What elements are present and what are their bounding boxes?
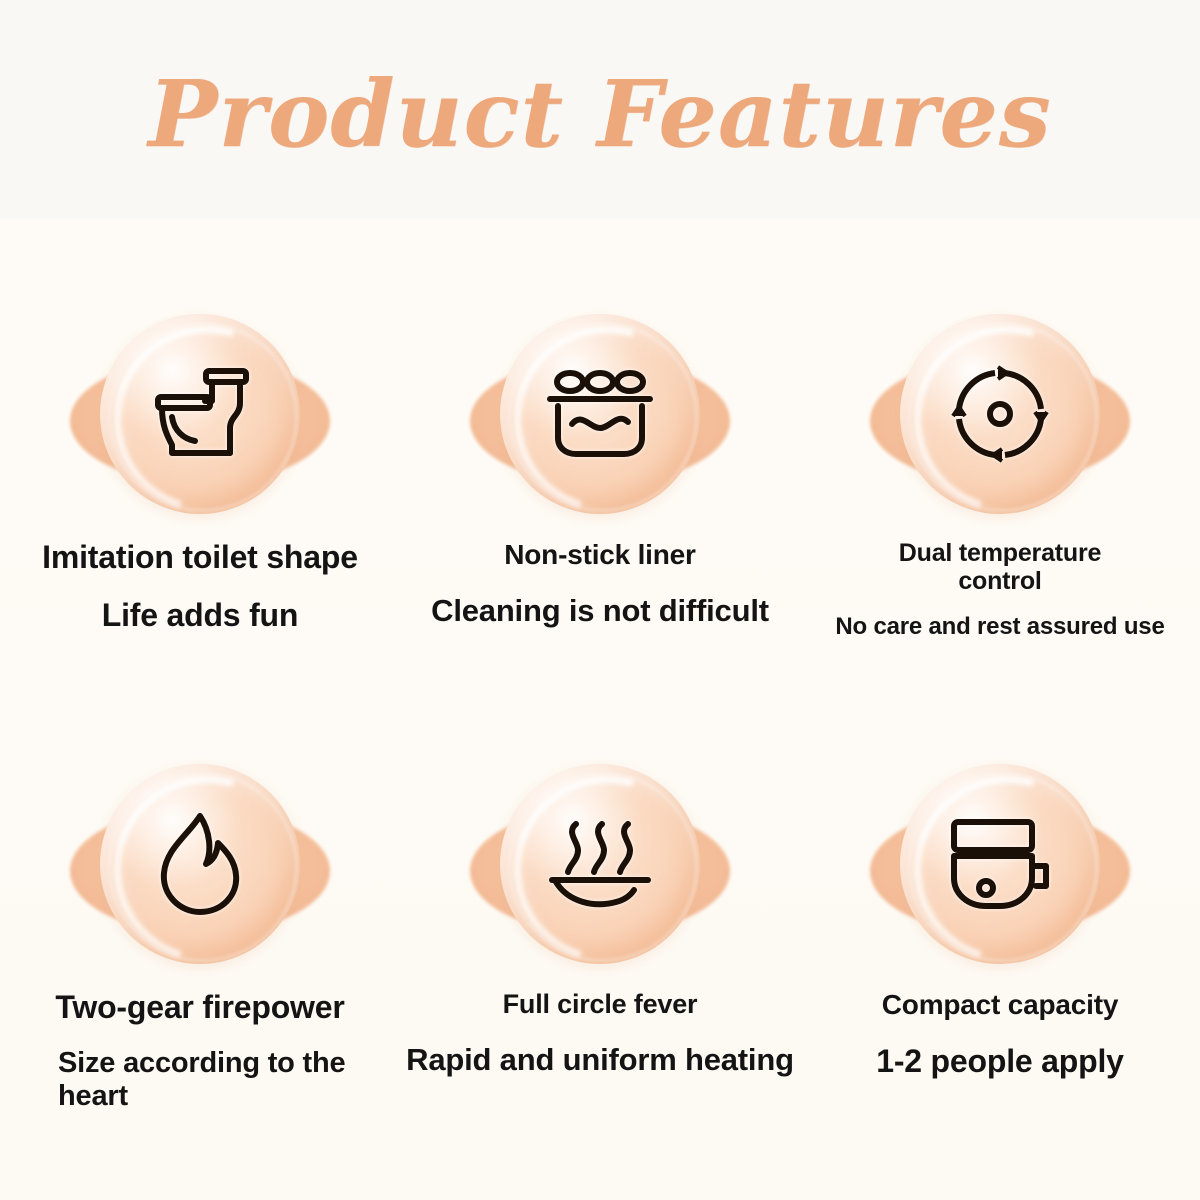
- feature-icon-bubble: [870, 762, 1130, 977]
- feature-icon-bubble: [470, 312, 730, 527]
- feature-card-dual-temperature-control: Dual temperature control No care and res…: [800, 228, 1200, 714]
- feature-secondary-label: Size according to the heart: [42, 1047, 358, 1112]
- feature-primary-label: Imitation toilet shape: [0, 539, 400, 575]
- non-stick-pot-icon: [500, 314, 700, 514]
- feature-card-full-circle-fever: Full circle fever Rapid and uniform heat…: [400, 714, 800, 1200]
- feature-secondary-label: No care and rest assured use: [800, 613, 1200, 640]
- features-grid: Imitation toilet shape Life adds fun: [0, 228, 1200, 1200]
- feature-icon-bubble: [870, 312, 1130, 527]
- steaming-bowl-icon: [500, 764, 700, 964]
- feature-icon-bubble: [70, 762, 330, 977]
- title-band: Product Features: [0, 0, 1200, 218]
- feature-primary-label: Two-gear firepower: [0, 989, 400, 1025]
- feature-icon-bubble: [470, 762, 730, 977]
- flame-icon: [100, 764, 300, 964]
- toilet-icon: [100, 314, 300, 514]
- feature-secondary-label: Rapid and uniform heating: [400, 1042, 800, 1077]
- feature-secondary-label: 1-2 people apply: [800, 1043, 1200, 1079]
- feature-secondary-label: Cleaning is not difficult: [400, 593, 800, 628]
- feature-card-two-gear-firepower: Two-gear firepower Size according to the…: [0, 714, 400, 1200]
- feature-card-compact-capacity: Compact capacity 1-2 people apply: [800, 714, 1200, 1200]
- product-features-poster: Product Features: [0, 0, 1200, 1200]
- feature-primary-label: Dual temperature control: [868, 539, 1133, 595]
- feature-primary-label: Non-stick liner: [400, 539, 800, 571]
- rice-cooker-icon: [900, 764, 1100, 964]
- feature-secondary-label: Life adds fun: [0, 597, 400, 633]
- feature-icon-bubble: [70, 312, 330, 527]
- feature-primary-label: Compact capacity: [800, 989, 1200, 1021]
- page-title: Product Features: [148, 58, 1051, 160]
- feature-primary-label: Full circle fever: [400, 989, 800, 1020]
- feature-card-non-stick-liner: Non-stick liner Cleaning is not difficul…: [400, 228, 800, 714]
- circular-arrows-icon: [900, 314, 1100, 514]
- feature-card-imitation-toilet-shape: Imitation toilet shape Life adds fun: [0, 228, 400, 714]
